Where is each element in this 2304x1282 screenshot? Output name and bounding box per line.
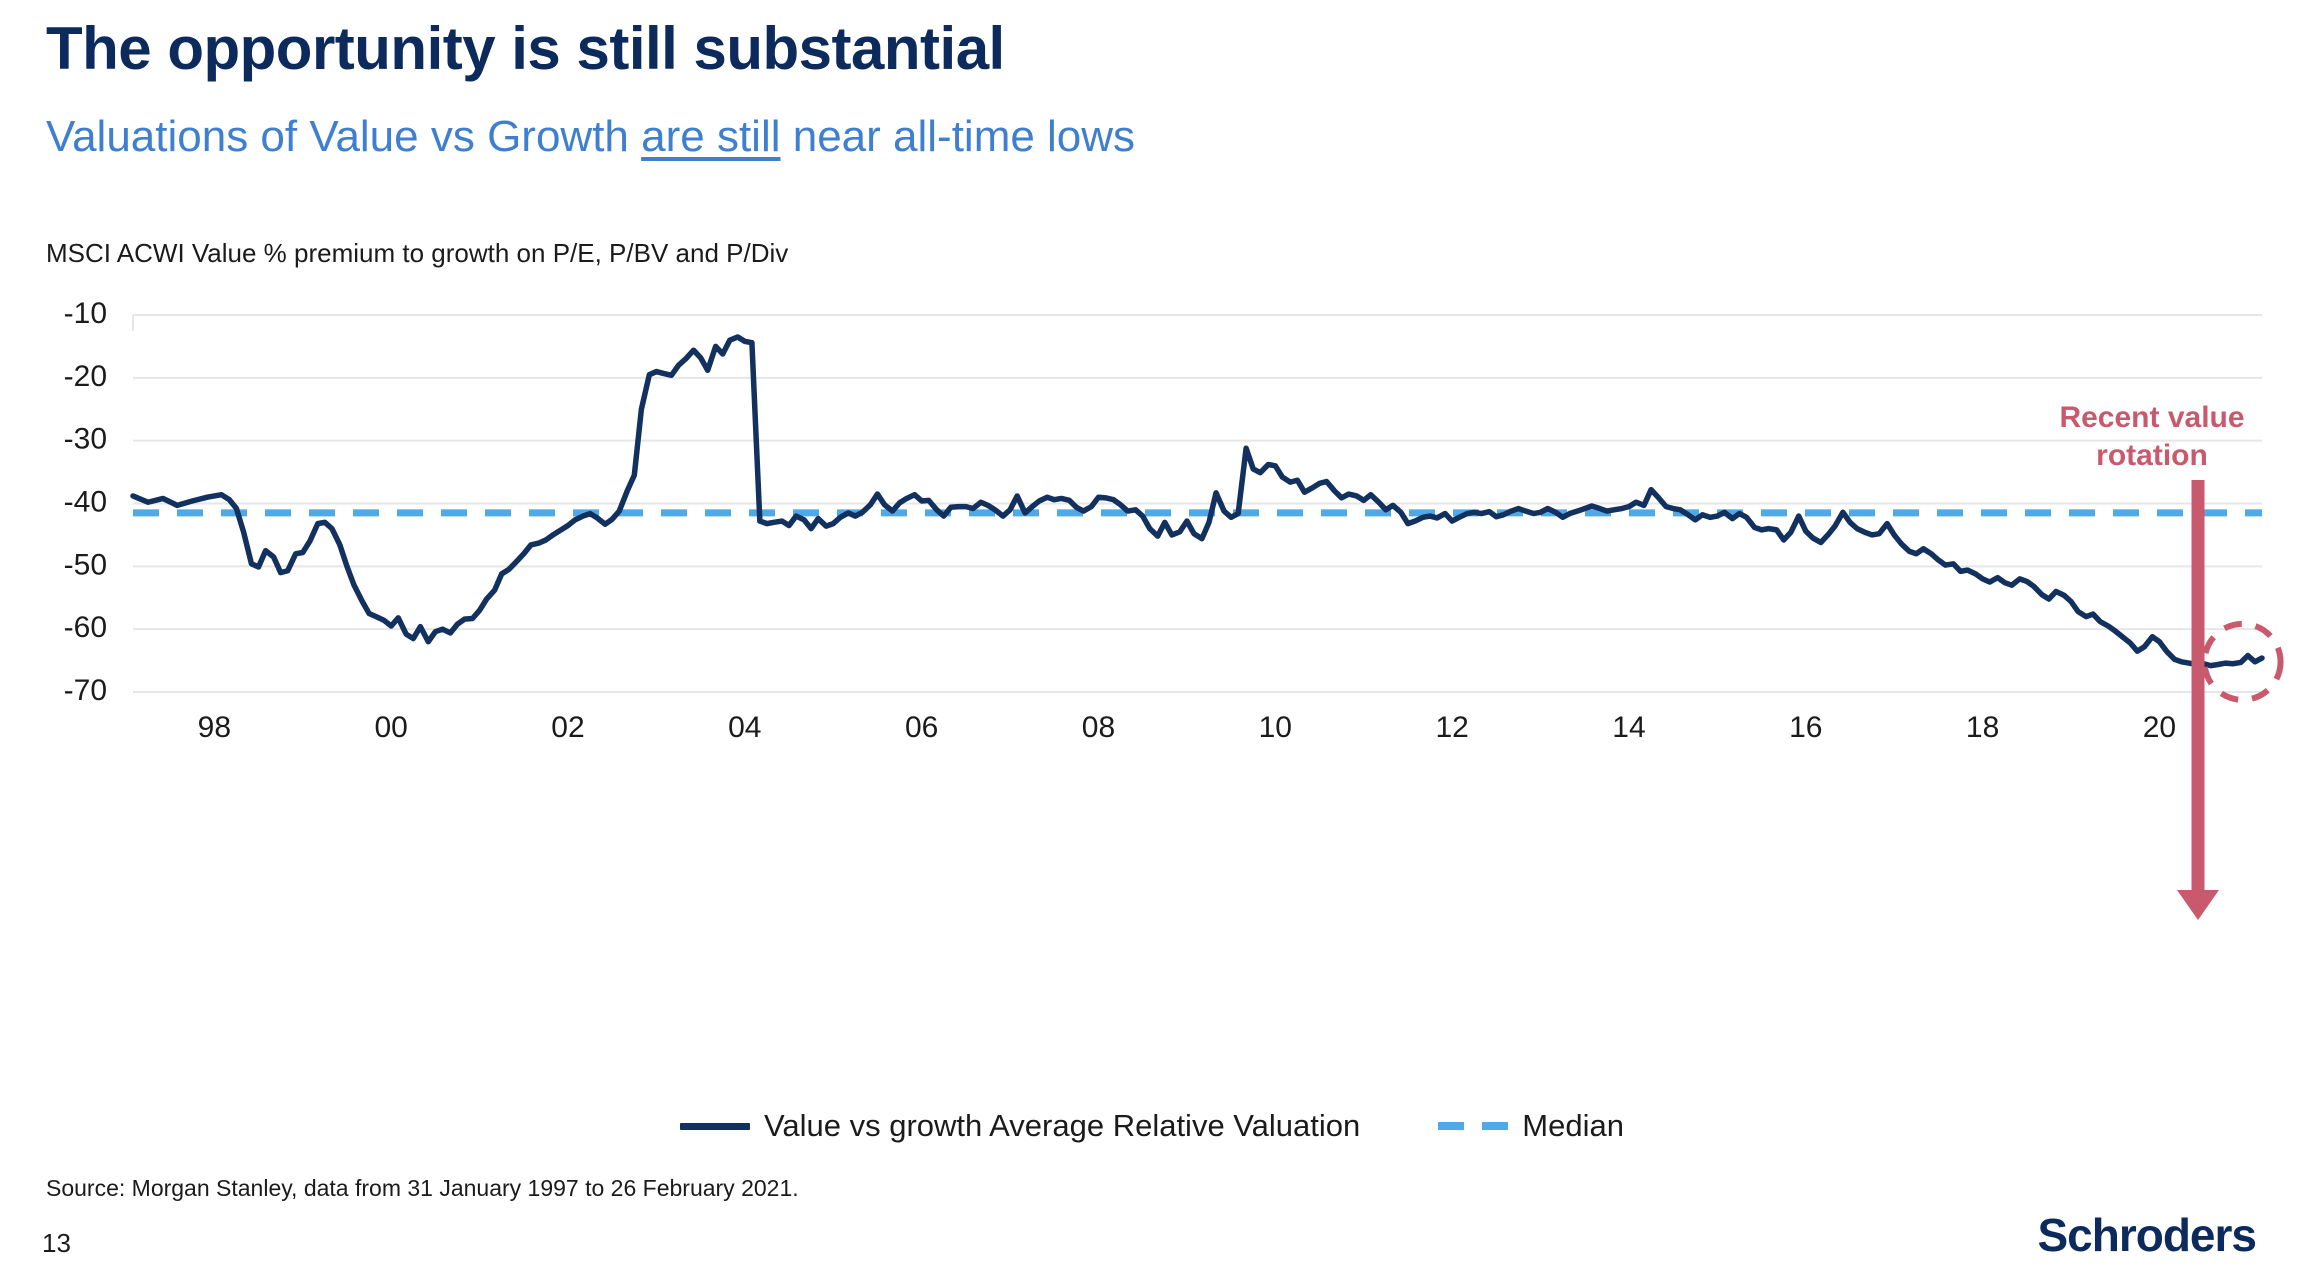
x-axis-tick-label: 04 — [728, 711, 761, 744]
x-axis-tick-label: 10 — [1259, 711, 1292, 744]
solid-line-swatch-icon — [680, 1123, 750, 1130]
x-axis-tick-label: 14 — [1612, 711, 1645, 744]
x-axis-tick-label: 98 — [198, 711, 231, 744]
page-number: 13 — [42, 1228, 71, 1259]
annotation-arrow-head — [2177, 890, 2219, 920]
x-axis-tick-label: 12 — [1435, 711, 1468, 744]
x-axis-tick-labels: 980002040608101214161820 — [198, 711, 2176, 744]
x-axis-tick-label: 08 — [1082, 711, 1115, 744]
dashed-line-swatch-icon — [1438, 1122, 1508, 1130]
x-axis-tick-label: 16 — [1789, 711, 1822, 744]
subtitle-part-1: Valuations of Value vs Growth — [46, 112, 641, 161]
page-title-text: The opportunity is still substantial — [46, 15, 1005, 82]
chart-gridlines — [133, 315, 2262, 692]
y-axis-tick-label: -50 — [64, 548, 107, 581]
y-axis-tick-label: -10 — [64, 297, 107, 330]
chart-container: -10-20-30-40-50-60-70 980002040608101214… — [0, 190, 2304, 1090]
subtitle-emphasis: are still — [641, 112, 780, 161]
y-axis-tick-labels: -10-20-30-40-50-60-70 — [64, 297, 107, 707]
annotation-text-line-2: rotation — [2096, 439, 2208, 472]
subtitle-part-2: near all-time lows — [781, 112, 1136, 161]
y-axis-tick-label: -40 — [64, 485, 107, 518]
chart-legend: Value vs growth Average Relative Valuati… — [0, 1108, 2304, 1144]
y-axis-tick-label: -70 — [64, 674, 107, 707]
recent-value-rotation-annotation: Recent value rotation — [2059, 401, 2280, 920]
page-title: The opportunity is still substantial — [46, 14, 1005, 83]
value-vs-growth-series-line — [133, 337, 2262, 666]
annotation-text-line-1: Recent value — [2059, 401, 2244, 434]
source-note: Source: Morgan Stanley, data from 31 Jan… — [46, 1175, 799, 1202]
x-axis-tick-label: 20 — [2143, 711, 2176, 744]
schroders-logo: Schroders — [2037, 1208, 2256, 1262]
legend-item-series: Value vs growth Average Relative Valuati… — [680, 1108, 1360, 1144]
x-axis-tick-label: 18 — [1966, 711, 1999, 744]
y-axis-tick-label: -30 — [64, 423, 107, 456]
x-axis-tick-label: 00 — [374, 711, 407, 744]
page-subtitle: Valuations of Value vs Growth are still … — [46, 112, 1135, 162]
legend-item-median: Median — [1438, 1108, 1624, 1144]
legend-label-median: Median — [1522, 1108, 1624, 1144]
line-chart: -10-20-30-40-50-60-70 980002040608101214… — [0, 190, 2304, 1090]
legend-label-series: Value vs growth Average Relative Valuati… — [764, 1108, 1360, 1144]
y-axis-tick-label: -60 — [64, 611, 107, 644]
x-axis-tick-label: 06 — [905, 711, 938, 744]
x-axis-tick-label: 02 — [551, 711, 584, 744]
y-axis-tick-label: -20 — [64, 360, 107, 393]
